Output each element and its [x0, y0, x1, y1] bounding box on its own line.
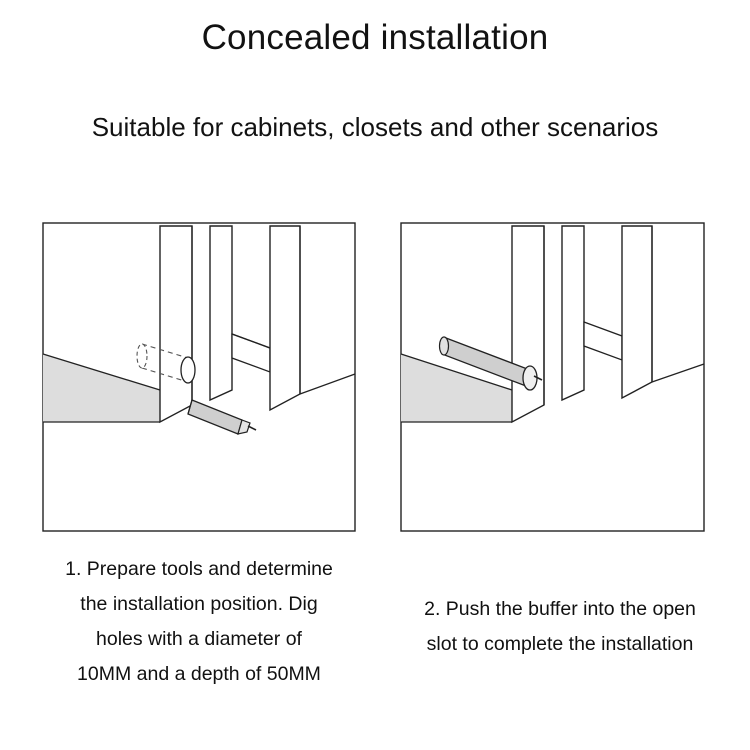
cabinet-right-stile [270, 226, 300, 410]
illustration-step-2 [400, 222, 705, 532]
cabinet-right-stile [622, 226, 652, 398]
caption-step-1: 1. Prepare tools and determine the insta… [20, 552, 378, 692]
caption-step-2: 2. Push the buffer into the open slot to… [382, 592, 738, 662]
caption-line: 2. Push the buffer into the open [382, 592, 738, 627]
caption-line: the installation position. Dig [20, 587, 378, 622]
cabinet-side-panel [160, 226, 192, 422]
cabinet-side-panel [512, 226, 544, 422]
cabinet-divider [210, 226, 232, 400]
caption-line: slot to complete the installation [382, 627, 738, 662]
page-subtitle: Suitable for cabinets, closets and other… [0, 112, 750, 143]
diagram-page: Concealed installation Suitable for cabi… [0, 0, 750, 750]
caption-line: 10MM and a depth of 50MM [20, 657, 378, 692]
caption-line: 1. Prepare tools and determine [20, 552, 378, 587]
caption-line: holes with a diameter of [20, 622, 378, 657]
cabinet-divider [562, 226, 584, 400]
page-title: Concealed installation [0, 18, 750, 58]
illustration-step-1 [42, 222, 356, 532]
